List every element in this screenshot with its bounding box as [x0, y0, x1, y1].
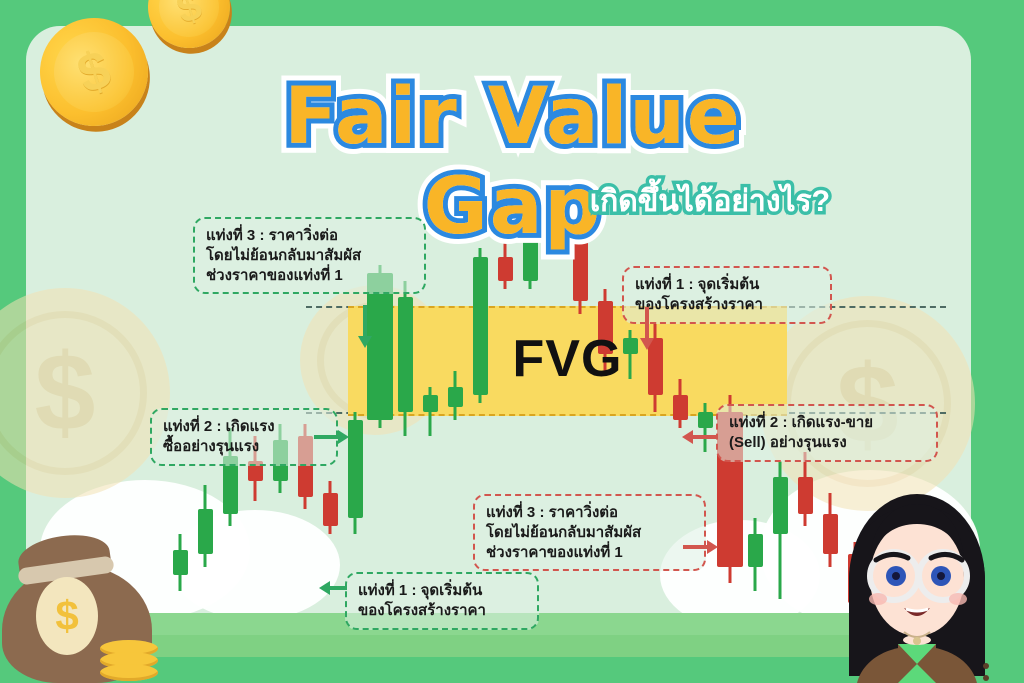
money-bag-icon: $ — [2, 536, 152, 683]
candle-body — [198, 509, 213, 554]
candle-body — [773, 477, 788, 534]
candle-24 — [773, 461, 788, 600]
note-bar2-sell-right: แท่งที่ 2 : เกิดแรง-ขาย (Sell) อย่างรุนแ… — [716, 404, 938, 462]
arrow-left-to-bar1 — [319, 586, 347, 590]
note-bar3-bottom: แท่งที่ 3 : ราคาวิ่งต่อ โดยไม่ย้อนกลับมา… — [473, 494, 706, 571]
candle-body — [698, 412, 713, 428]
note-bar1-bottom-left: แท่งที่ 1 : จุดเริ่มต้น ของโครงสร้างราคา — [345, 572, 539, 630]
candle-body — [748, 534, 763, 567]
note-bar2-buy-left: แท่งที่ 2 : เกิดแรง ซื้ออย่างรุนแรง — [150, 408, 338, 466]
arrow-down-to-bar3-left — [363, 305, 367, 347]
bag-dollar-sign: $ — [36, 577, 98, 655]
candle-7 — [348, 412, 363, 534]
candle-6 — [323, 481, 338, 534]
candle-body — [498, 257, 513, 281]
page-subtitle: เกิดขึ้นได้อย่างไร? — [470, 178, 830, 225]
note-bar3-top-left: แท่งที่ 3 : ราคาวิ่งต่อ โดยไม่ย้อนกลับมา… — [193, 217, 426, 294]
candle-body — [348, 420, 363, 518]
candle-0 — [173, 534, 188, 591]
arrow-left-to-bar2-right — [682, 435, 716, 439]
candle-body — [173, 550, 188, 574]
note-bar1-top-right: แท่งที่ 1 : จุดเริ่มต้น ของโครงสร้างราคา — [622, 266, 832, 324]
analyst-character — [810, 460, 1024, 683]
coin-pile — [100, 645, 158, 681]
arrow-right-to-bar2-left — [314, 435, 348, 439]
candle-23 — [748, 518, 763, 591]
candle-1 — [198, 485, 213, 567]
infographic-canvas: $$$ FVG Fair Value Gap Fair Value Gap เก… — [0, 0, 1024, 683]
candle-body — [323, 493, 338, 526]
arrow-right-to-bar3 — [683, 545, 717, 549]
arrow-down-to-bar1-right — [645, 307, 649, 349]
